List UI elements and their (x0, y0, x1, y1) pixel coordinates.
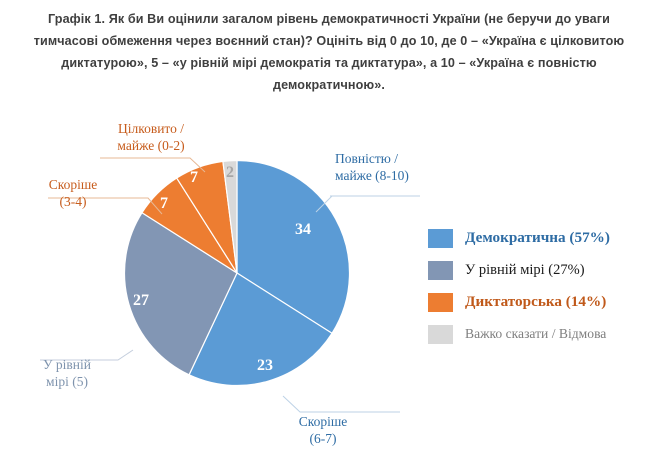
callout-full-line2: майже (8-10) (335, 167, 445, 184)
legend-label-democratic: Демократична (57%) (465, 229, 610, 247)
legend-item-democratic[interactable]: Демократична (57%) (428, 222, 650, 254)
callout-full: Повністю / майже (8-10) (335, 150, 445, 184)
legend-label-hard-to-say: Важко сказати / Відмова (465, 326, 606, 342)
slice-value-hard-to-say: 2 (226, 164, 234, 182)
legend-swatch-democratic (428, 229, 453, 248)
slice-value-equal: 27 (133, 292, 149, 310)
legend-label-dictatorial: Диктаторська (14%) (465, 293, 606, 311)
legend-swatch-equal (428, 261, 453, 280)
callout-rather-dict-line1: Скоріше (18, 176, 128, 193)
legend-swatch-dictatorial (428, 293, 453, 312)
legend-item-equal[interactable]: У рівній мірі (27%) (428, 254, 650, 286)
callout-full-line1: Повністю / (335, 150, 445, 167)
callout-equal-line1: У рівній (12, 356, 122, 373)
leader-line-rather-dem (283, 396, 400, 412)
callout-rather-dem-line2: (6-7) (268, 430, 378, 447)
callout-full-dict: Цілковито / майже (0-2) (92, 120, 210, 154)
callout-rather-dem-line1: Скоріше (268, 413, 378, 430)
callout-equal-line2: мірі (5) (12, 373, 122, 390)
callout-rather-dict-line2: (3-4) (18, 193, 128, 210)
legend-label-equal: У рівній мірі (27%) (465, 262, 585, 279)
pie-slice-group (124, 161, 349, 386)
legend: Демократична (57%) У рівній мірі (27%) Д… (428, 222, 650, 350)
legend-item-hard-to-say[interactable]: Важко сказати / Відмова (428, 318, 650, 350)
callout-equal: У рівній мірі (5) (12, 356, 122, 390)
chart-page: Графік 1. Як би Ви оцінили загалом рівен… (0, 0, 657, 453)
pie-svg (124, 160, 350, 386)
callout-full-dict-line1: Цілковито / (92, 120, 210, 137)
callout-rather-dem: Скоріше (6-7) (268, 413, 378, 447)
slice-value-rather-dem: 23 (257, 357, 273, 375)
page-title: Графік 1. Як би Ви оцінили загалом рівен… (18, 8, 640, 96)
legend-swatch-hard-to-say (428, 325, 453, 344)
callout-rather-dict: Скоріше (3-4) (18, 176, 128, 210)
slice-value-rather-dict: 7 (190, 169, 198, 187)
legend-item-dictatorial[interactable]: Диктаторська (14%) (428, 286, 650, 318)
slice-value-full-dict: 7 (160, 195, 168, 213)
callout-full-dict-line2: майже (0-2) (92, 137, 210, 154)
slice-value-full: 34 (295, 221, 311, 239)
pie-chart (124, 160, 350, 386)
